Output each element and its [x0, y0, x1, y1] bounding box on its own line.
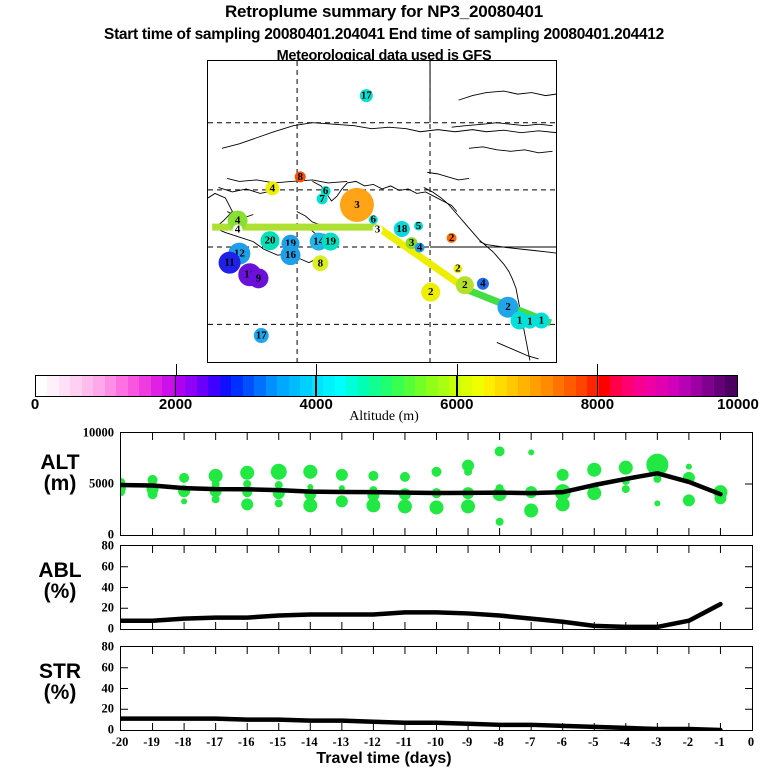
svg-text:1: 1 — [527, 316, 533, 328]
colorbar-band — [277, 376, 288, 396]
colorbar-band — [300, 376, 311, 396]
x-tick-label: -8 — [493, 735, 503, 750]
svg-text:3: 3 — [409, 237, 415, 249]
fraction-line — [121, 604, 720, 627]
svg-text:7: 7 — [319, 193, 325, 205]
colorbar-tick — [316, 364, 317, 375]
altitude-panel[interactable] — [120, 432, 753, 536]
x-tick-label: -16 — [238, 735, 255, 750]
svg-text:5: 5 — [416, 220, 422, 232]
x-tick-label: -6 — [556, 735, 566, 750]
map-marker[interactable]: 2 — [421, 283, 440, 302]
x-tick-label: -7 — [525, 735, 535, 750]
map-marker[interactable]: 9 — [248, 268, 268, 288]
colorbar-band — [679, 376, 690, 396]
x-tick-label: -9 — [462, 735, 472, 750]
scatter-point — [587, 463, 601, 477]
svg-text:2: 2 — [449, 232, 455, 244]
x-tick-label: -10 — [427, 735, 444, 750]
colorbar-band — [93, 376, 104, 396]
colorbar-tick — [597, 364, 598, 375]
svg-text:8: 8 — [297, 171, 303, 183]
colorbar-band — [105, 376, 116, 396]
x-tick-label: -15 — [269, 735, 286, 750]
map-marker[interactable]: 2 — [456, 276, 474, 294]
y-tick-label: 10000 — [58, 426, 114, 441]
x-tick-label: -2 — [683, 735, 693, 750]
svg-text:17: 17 — [256, 330, 268, 342]
colorbar-band — [47, 376, 58, 396]
scatter-point — [686, 464, 692, 470]
x-tick-label: -12 — [364, 735, 381, 750]
colorbar-band — [197, 376, 208, 396]
scatter-point — [275, 499, 283, 507]
scatter-point — [400, 472, 410, 482]
scatter-point — [430, 500, 444, 514]
colorbar-band — [116, 376, 127, 396]
altitude-colorbar[interactable] — [35, 375, 738, 397]
svg-text:3: 3 — [354, 199, 360, 211]
colorbar-band — [691, 376, 702, 396]
svg-text:18: 18 — [396, 223, 408, 235]
x-axis-title: Travel time (days) — [0, 750, 768, 768]
colorbar-title: Altitude (m) — [0, 409, 768, 425]
colorbar-band — [599, 376, 610, 396]
colorbar-band — [645, 376, 656, 396]
svg-text:4: 4 — [235, 224, 241, 236]
colorbar-band — [70, 376, 81, 396]
x-tick-label: 0 — [748, 735, 754, 750]
colorbar-band — [82, 376, 93, 396]
map-marker[interactable]: 3 — [340, 188, 374, 222]
scatter-point — [524, 504, 538, 518]
colorbar-band — [346, 376, 357, 396]
svg-text:4: 4 — [417, 242, 423, 254]
scatter-point — [495, 446, 505, 456]
svg-text:1: 1 — [539, 314, 545, 326]
colorbar-divider — [315, 375, 317, 397]
colorbar-band — [553, 376, 564, 396]
scatter-point — [496, 518, 504, 526]
colorbar-band — [656, 376, 667, 396]
scatter-point — [366, 498, 380, 512]
colorbar-band — [151, 376, 162, 396]
x-tick-label: -17 — [206, 735, 223, 750]
colorbar-band — [381, 376, 392, 396]
map-marker[interactable]: 16 — [280, 245, 300, 265]
colorbar-tick — [457, 364, 458, 375]
y-tick-label: 60 — [58, 660, 114, 675]
svg-text:17: 17 — [361, 90, 373, 102]
colorbar-band — [59, 376, 70, 396]
colorbar-band — [507, 376, 518, 396]
x-tick-label: -13 — [333, 735, 350, 750]
scatter-point — [179, 473, 189, 483]
scatter-point — [432, 467, 442, 477]
colorbar-band — [633, 376, 644, 396]
scatter-point — [336, 495, 348, 507]
x-tick-label: -4 — [620, 735, 630, 750]
colorbar-band — [358, 376, 369, 396]
y-tick-label: 5000 — [58, 477, 114, 492]
map-marker[interactable]: 20 — [260, 231, 279, 250]
scatter-point — [622, 485, 630, 493]
svg-text:4: 4 — [480, 278, 486, 290]
y-tick-label: 80 — [58, 640, 114, 655]
y-tick-label: 60 — [58, 559, 114, 574]
y-tick-label: 40 — [58, 681, 114, 696]
colorbar-band — [220, 376, 231, 396]
colorbar-band — [426, 376, 437, 396]
colorbar-band — [254, 376, 265, 396]
svg-text:9: 9 — [256, 272, 262, 284]
colorbar-band — [128, 376, 139, 396]
scatter-point — [557, 469, 569, 481]
svg-text:11: 11 — [224, 257, 234, 269]
map-marker[interactable]: 5 — [414, 220, 423, 232]
sampling-time-line: Start time of sampling 20080401.204041 E… — [0, 26, 768, 44]
colorbar-band — [312, 376, 323, 396]
scatter-point — [683, 494, 695, 506]
map-marker[interactable]: 1 — [533, 312, 549, 328]
map-marker[interactable]: 19 — [321, 233, 339, 251]
colorbar-band — [185, 376, 196, 396]
scatter-point — [148, 489, 158, 499]
colorbar-band — [392, 376, 403, 396]
colorbar-band — [576, 376, 587, 396]
x-tick-label: -3 — [651, 735, 661, 750]
colorbar-band — [335, 376, 346, 396]
svg-text:2: 2 — [505, 301, 511, 313]
scatter-point — [398, 499, 412, 513]
colorbar-band — [162, 376, 173, 396]
colorbar-band — [472, 376, 483, 396]
str-panel[interactable] — [120, 646, 753, 731]
x-tick-label: -20 — [112, 735, 129, 750]
colorbar-band — [530, 376, 541, 396]
map-marker[interactable]: 4 — [477, 278, 489, 290]
colorbar-band — [266, 376, 277, 396]
map-marker[interactable]: 18 — [394, 221, 410, 237]
colorbar-band — [484, 376, 495, 396]
svg-text:2: 2 — [455, 263, 461, 275]
colorbar-band — [622, 376, 633, 396]
x-tick-label: -11 — [396, 735, 412, 750]
y-tick-label: 80 — [58, 539, 114, 554]
colorbar-tick — [176, 364, 177, 375]
scatter-point — [243, 480, 251, 488]
colorbar-band — [231, 376, 242, 396]
map-marker[interactable]: 8 — [312, 255, 328, 271]
colorbar-band — [208, 376, 219, 396]
scatter-point — [556, 497, 570, 511]
scatter-point — [461, 499, 475, 513]
colorbar-band — [438, 376, 449, 396]
colorbar-band — [369, 376, 380, 396]
colorbar-band — [495, 376, 506, 396]
colorbar-band — [36, 376, 47, 396]
y-tick-label: 40 — [58, 580, 114, 595]
x-tick-label: -5 — [588, 735, 598, 750]
scatter-point — [619, 461, 633, 475]
x-tick-label: -1 — [714, 735, 724, 750]
colorbar-band — [668, 376, 679, 396]
colorbar-divider — [456, 375, 458, 397]
colorbar-band — [541, 376, 552, 396]
colorbar-band — [702, 376, 713, 396]
abl-panel[interactable] — [120, 545, 753, 630]
colorbar-band — [714, 376, 725, 396]
map-marker[interactable]: 4 — [265, 181, 279, 195]
colorbar-band — [323, 376, 334, 396]
fraction-line — [121, 719, 720, 730]
y-tick-label: 0 — [58, 723, 114, 738]
colorbar-band — [518, 376, 529, 396]
svg-text:16: 16 — [285, 249, 297, 261]
map-marker[interactable]: 2 — [447, 232, 457, 244]
svg-text:4: 4 — [270, 182, 276, 194]
y-tick-label: 20 — [58, 601, 114, 616]
scatter-point — [464, 468, 472, 476]
colorbar-divider — [597, 375, 599, 397]
svg-text:1: 1 — [517, 314, 523, 326]
scatter-point — [241, 498, 253, 510]
scatter-point — [336, 469, 348, 481]
scatter-point — [212, 495, 220, 503]
x-tick-label: -18 — [175, 735, 192, 750]
scatter-point — [271, 464, 287, 480]
x-tick-label: -14 — [301, 735, 318, 750]
colorbar-band — [289, 376, 300, 396]
colorbar-band — [243, 376, 254, 396]
map-marker[interactable]: 4 — [415, 242, 425, 254]
scatter-point — [303, 465, 317, 479]
svg-text:19: 19 — [325, 236, 337, 248]
map-marker[interactable]: 17 — [254, 328, 269, 343]
svg-text:2: 2 — [428, 286, 434, 298]
map-marker[interactable]: 17 — [360, 89, 373, 102]
map-marker[interactable]: 11 — [219, 252, 241, 274]
svg-text:3: 3 — [375, 224, 381, 236]
colorbar-band — [564, 376, 575, 396]
map-marker[interactable]: 2 — [453, 263, 462, 275]
colorbar-band — [461, 376, 472, 396]
scatter-point — [181, 498, 187, 504]
y-tick-label: 20 — [58, 702, 114, 717]
scatter-point — [368, 471, 378, 481]
svg-text:20: 20 — [264, 235, 276, 247]
colorbar-band — [725, 376, 736, 396]
scatter-point — [528, 449, 534, 455]
svg-text:8: 8 — [318, 257, 324, 269]
page-title: Retroplume summary for NP3_20080401 — [0, 2, 768, 22]
colorbar-divider — [175, 375, 177, 397]
trajectory-map[interactable]: 1784673634420191614191853421211109822242… — [207, 60, 557, 363]
scatter-point — [654, 500, 660, 506]
x-tick-label: -19 — [143, 735, 160, 750]
colorbar-band — [404, 376, 415, 396]
svg-text:2: 2 — [462, 279, 468, 291]
y-tick-label: 0 — [58, 622, 114, 637]
colorbar-band — [139, 376, 150, 396]
scatter-point — [303, 498, 317, 512]
scatter-point — [240, 466, 254, 480]
colorbar-band — [610, 376, 621, 396]
colorbar-band — [415, 376, 426, 396]
